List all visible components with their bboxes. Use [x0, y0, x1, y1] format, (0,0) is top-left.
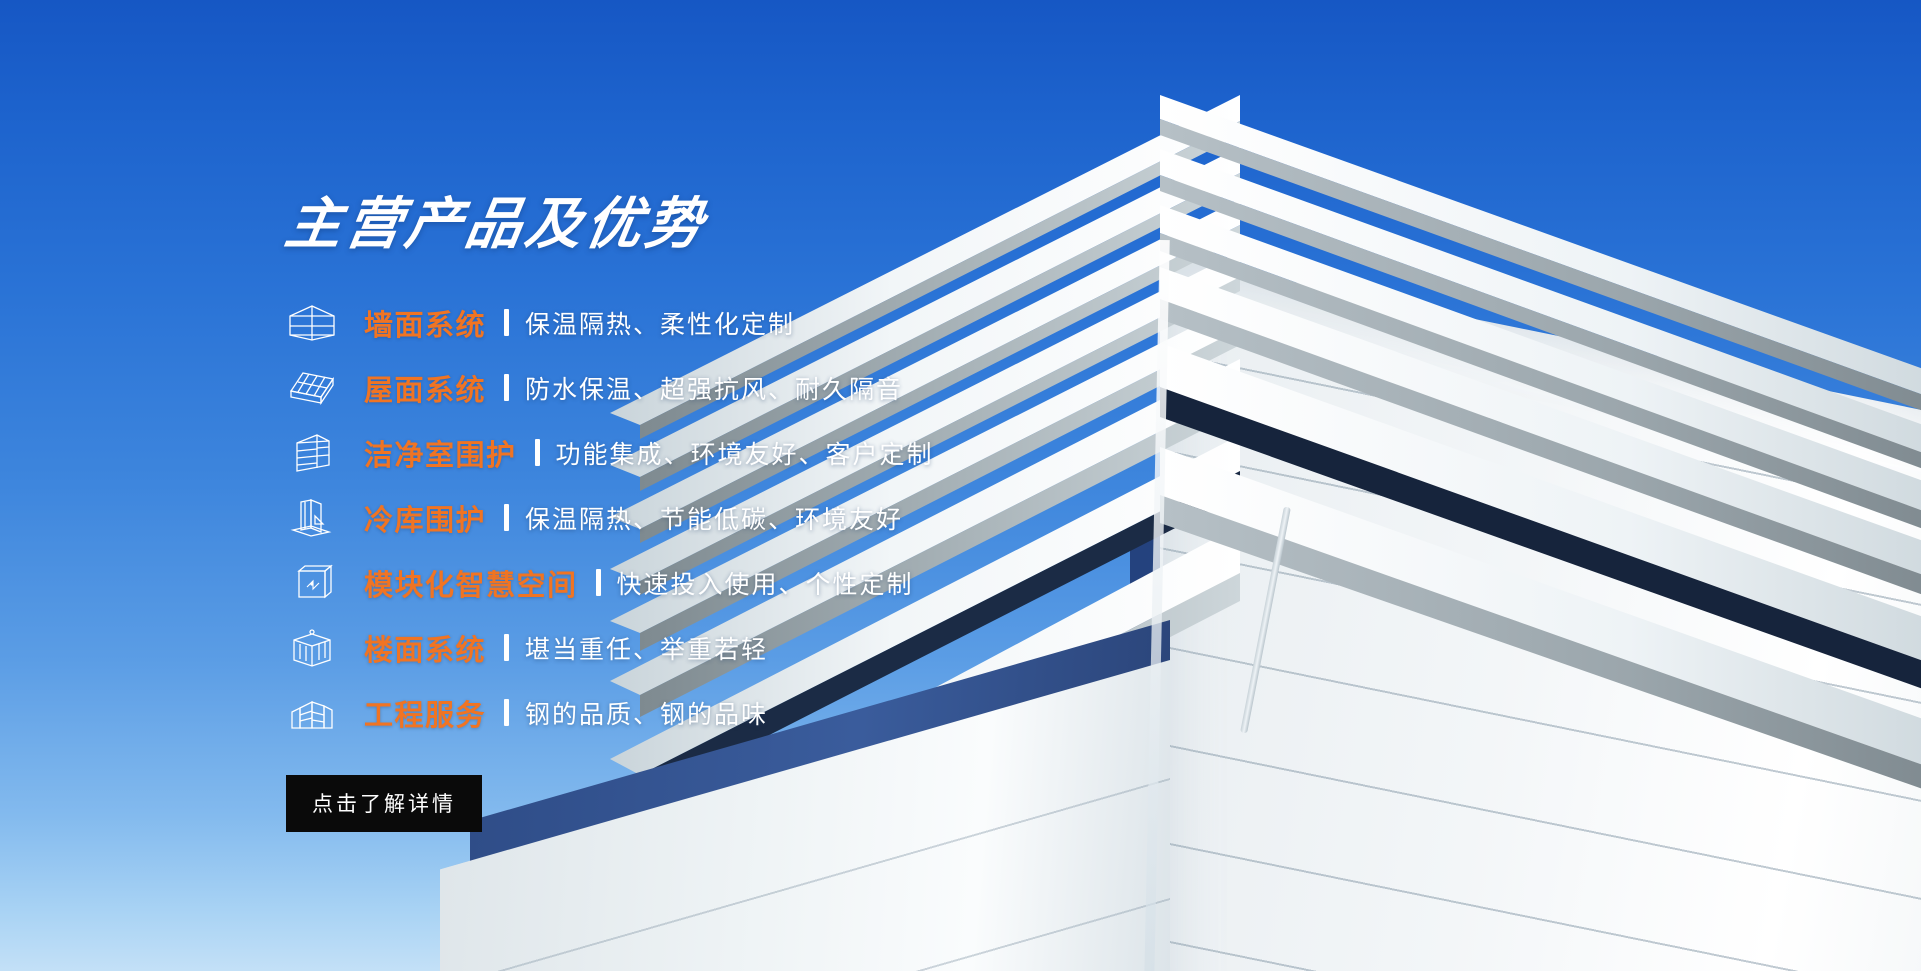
feature-row-cleanroom-enclosure[interactable]: 洁净室围护 功能集成、环境友好、客户定制 [286, 420, 1266, 485]
cornice-right-svg [1160, 95, 1921, 795]
feature-row-modular-smart-space[interactable]: 模块化智慧空间 快速投入使用、个性定制 [286, 550, 1266, 615]
building-cornice-stack-right [1160, 95, 1921, 795]
feature-description: 堪当重任、举重若轻 [525, 630, 768, 666]
feature-description: 钢的品质、钢的品味 [525, 695, 768, 731]
feature-separator [504, 634, 509, 661]
feature-list: 墙面系统 保温隔热、柔性化定制 屋面系统 [286, 290, 1266, 745]
page-title: 主营产品及优势 [282, 196, 711, 252]
feature-name: 洁净室围护 [364, 432, 517, 474]
modular-cube-icon [286, 560, 338, 606]
feature-name: 屋面系统 [364, 367, 486, 409]
feature-separator [596, 569, 601, 596]
feature-name: 模块化智慧空间 [364, 562, 578, 604]
feature-separator [504, 374, 509, 401]
wall-panel-icon [286, 300, 338, 346]
banner-content: 主营产品及优势 墙面系统 保温隔热、柔性化定制 [286, 196, 1266, 832]
engineering-service-icon [286, 690, 338, 736]
feature-row-cold-storage-enclosure[interactable]: 冷库围护 保温隔热、节能低碳、环境友好 [286, 485, 1266, 550]
cleanroom-building-icon [286, 430, 338, 476]
feature-description: 快速投入使用、个性定制 [617, 565, 914, 601]
coldstorage-icon [286, 495, 338, 541]
feature-description: 功能集成、环境友好、客户定制 [556, 435, 934, 471]
feature-name: 墙面系统 [364, 302, 486, 344]
building-facade-right [1160, 255, 1921, 971]
feature-name: 工程服务 [364, 692, 486, 734]
feature-name: 冷库围护 [364, 497, 486, 539]
feature-description: 保温隔热、柔性化定制 [525, 305, 795, 341]
roof-slab-icon [286, 365, 338, 411]
feature-description: 防水保温、超强抗风、耐久隔音 [525, 370, 903, 406]
feature-separator [504, 309, 509, 336]
feature-separator [504, 504, 509, 531]
feature-row-roof-system[interactable]: 屋面系统 防水保温、超强抗风、耐久隔音 [286, 355, 1266, 420]
feature-separator [535, 439, 540, 466]
feature-row-wall-system[interactable]: 墙面系统 保温隔热、柔性化定制 [286, 290, 1266, 355]
feature-description: 保温隔热、节能低碳、环境友好 [525, 500, 903, 536]
cta-wrapper: 点击了解详情 [286, 775, 1266, 832]
feature-row-floor-system[interactable]: 楼面系统 堪当重任、举重若轻 [286, 615, 1266, 680]
feature-separator [504, 699, 509, 726]
hero-banner: 主营产品及优势 墙面系统 保温隔热、柔性化定制 [0, 0, 1921, 971]
building-facade-right-panel-lines [1160, 255, 1921, 971]
learn-more-button[interactable]: 点击了解详情 [286, 775, 482, 832]
feature-name: 楼面系统 [364, 627, 486, 669]
feature-row-engineering-service[interactable]: 工程服务 钢的品质、钢的品味 [286, 680, 1266, 745]
floor-deck-icon [286, 625, 338, 671]
